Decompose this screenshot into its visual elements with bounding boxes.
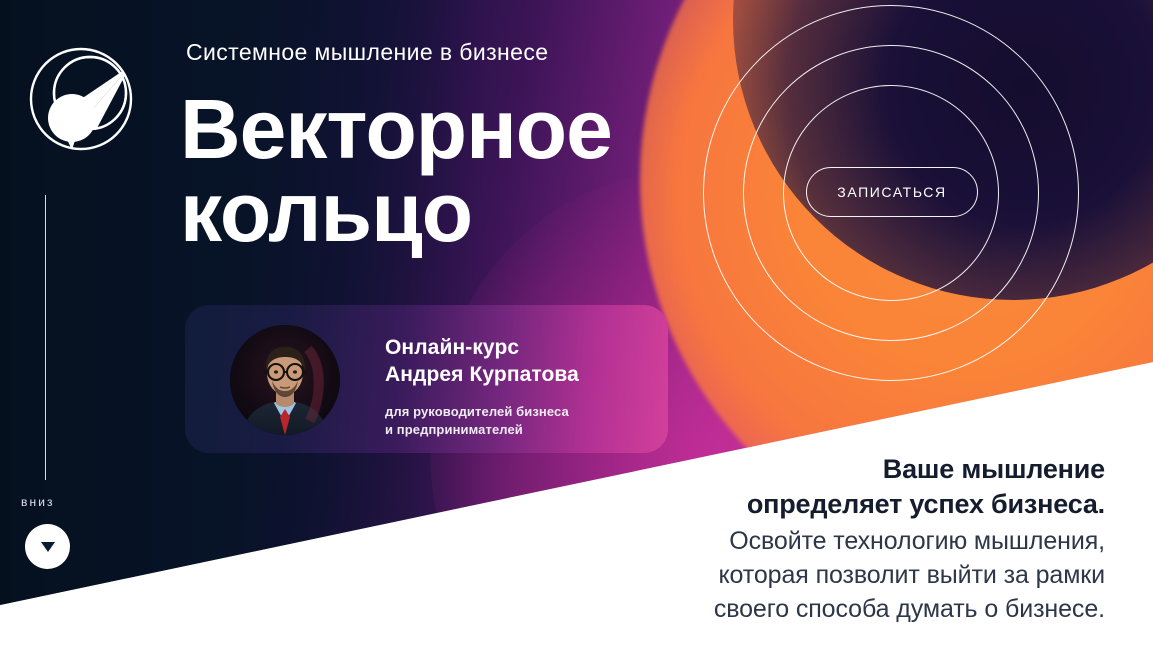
course-card-subtitle: для руководителей бизнеса и предпринимат… — [385, 403, 579, 439]
course-card-title-line-2: Андрея Курпатова — [385, 362, 579, 389]
course-card-text: Онлайн-курс Андрея Курпатова для руковод… — [385, 335, 579, 439]
scroll-guide-line — [45, 195, 46, 480]
scroll-down-label: вниз — [21, 495, 55, 509]
page-kicker: Системное мышление в бизнесе — [186, 39, 548, 66]
course-card: Онлайн-курс Андрея Курпатова для руковод… — [185, 305, 668, 453]
course-card-title-line-1: Онлайн-курс — [385, 335, 579, 362]
page-title-line-1: Векторное — [180, 88, 612, 171]
scroll-down-button[interactable] — [25, 524, 70, 569]
tagline-body-line-2: которая позволит выйти за рамки — [714, 558, 1105, 592]
tagline-body-line-1: Освойте технологию мышления, — [714, 524, 1105, 558]
course-card-subtitle-line-1: для руководителей бизнеса — [385, 403, 579, 421]
page-title-line-2: кольцо — [180, 171, 612, 254]
landing-hero-page: Системное мышление в бизнесе Векторное к… — [0, 0, 1153, 663]
tagline-headline-line-2: определяет успех бизнеса. — [714, 487, 1105, 522]
tagline-headline: Ваше мышление определяет успех бизнеса. — [714, 452, 1105, 522]
vector-ring-logo-icon — [20, 38, 142, 160]
tagline-body-line-3: своего способа думать о бизнесе. — [714, 592, 1105, 626]
signup-button[interactable]: ЗАПИСАТЬСЯ — [806, 167, 978, 217]
tagline-headline-line-1: Ваше мышление — [714, 452, 1105, 487]
page-title: Векторное кольцо — [180, 88, 612, 254]
avatar — [230, 325, 340, 435]
course-card-subtitle-line-2: и предпринимателей — [385, 421, 579, 439]
course-card-title: Онлайн-курс Андрея Курпатова — [385, 335, 579, 389]
chevron-down-icon — [41, 542, 55, 552]
tagline-body: Освойте технологию мышления, которая поз… — [714, 524, 1105, 626]
tagline-block: Ваше мышление определяет успех бизнеса. … — [714, 452, 1105, 626]
